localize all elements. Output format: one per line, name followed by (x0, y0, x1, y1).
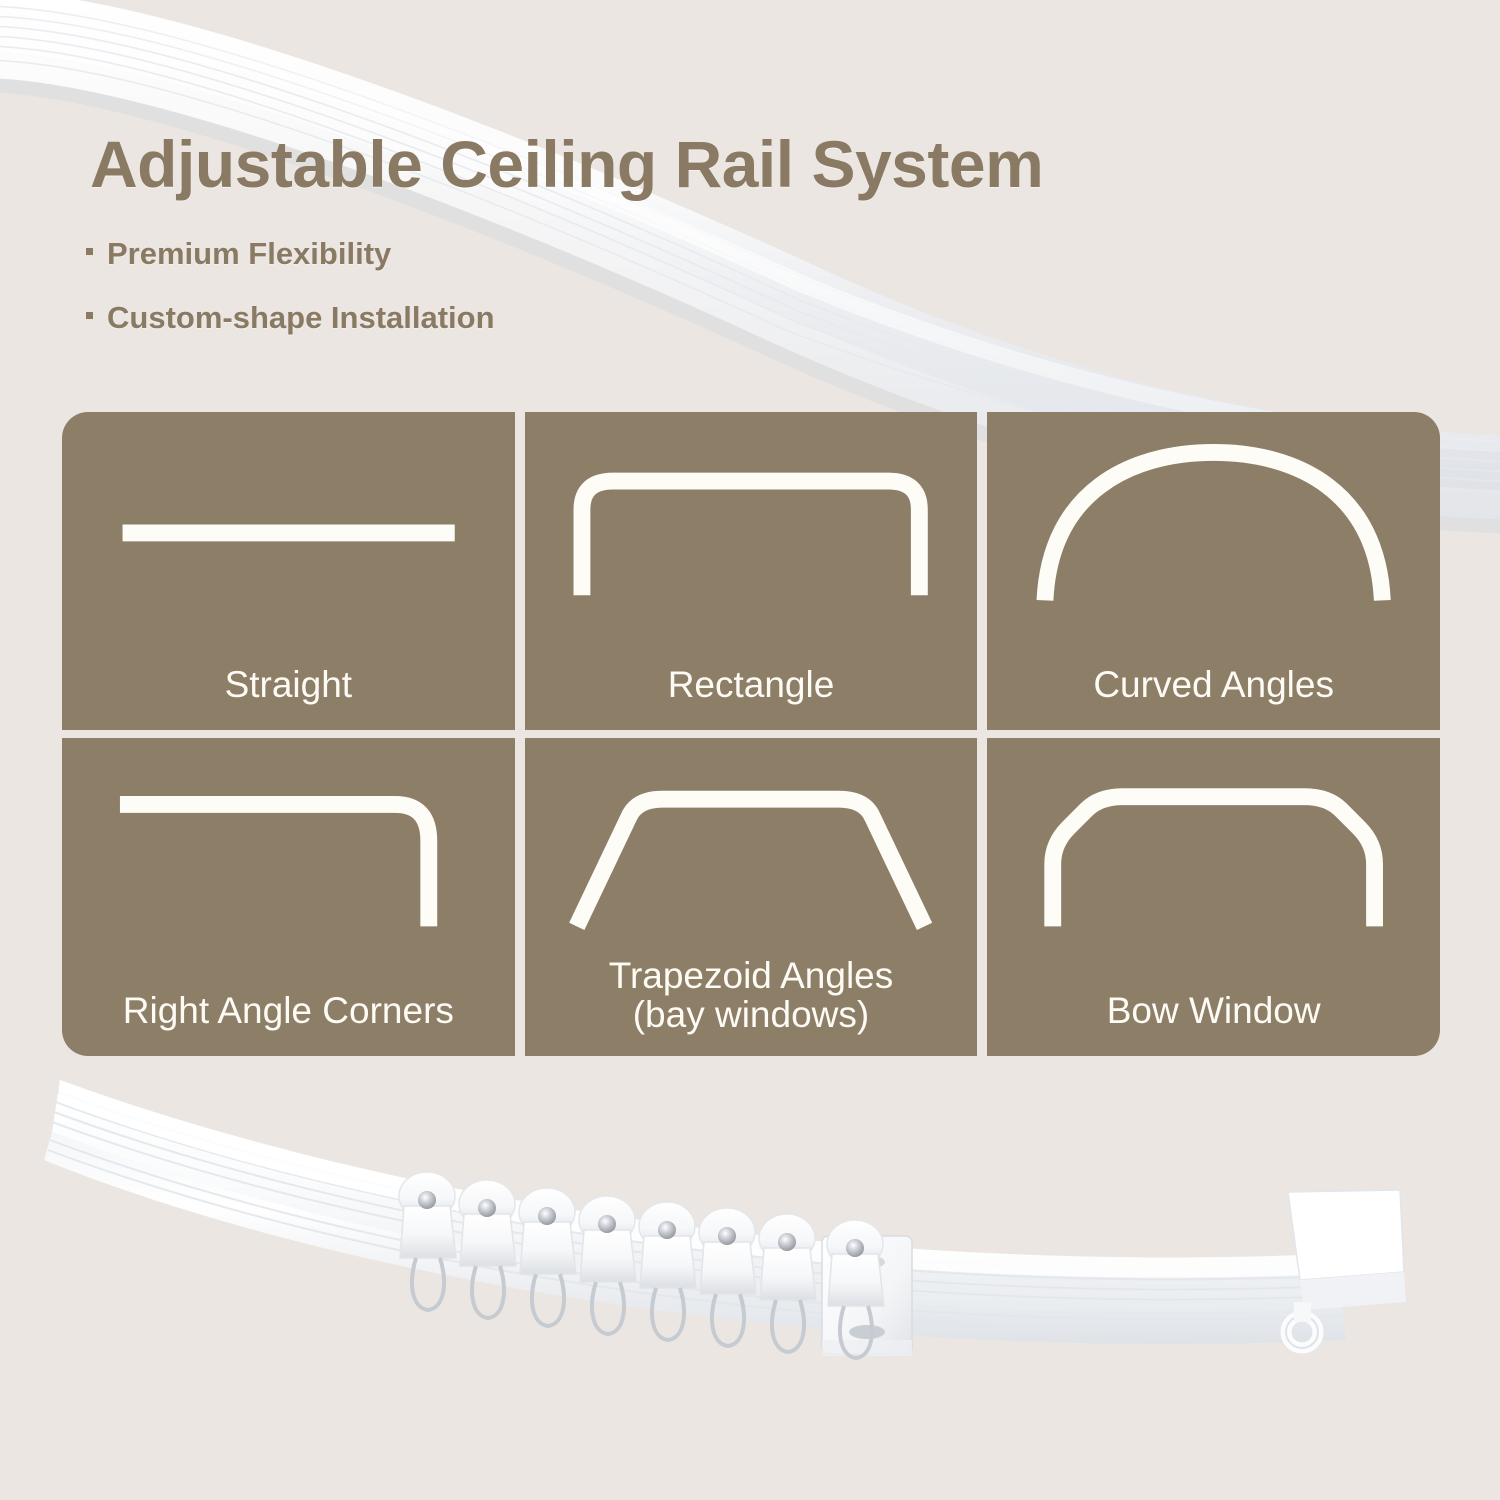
list-item: Custom-shape Installation (86, 300, 495, 336)
shape-cell-straight[interactable]: Straight (62, 412, 515, 730)
bullet-dot-icon (86, 248, 93, 255)
straight-line-shape (62, 412, 515, 641)
trapezoid-shape (525, 738, 978, 967)
roller-glider-carrier (759, 1214, 816, 1352)
bullet-label: Premium Flexibility (107, 236, 391, 272)
product-photo-curtain-track (0, 1040, 1500, 1500)
infographic-canvas: Adjustable Ceiling Rail System Premium F… (0, 0, 1500, 1500)
bow-window-shape (987, 738, 1440, 967)
bullet-label: Custom-shape Installation (107, 300, 495, 336)
list-item: Premium Flexibility (86, 236, 495, 272)
shape-label: Right Angle Corners (115, 991, 462, 1056)
bullet-dot-icon (86, 312, 93, 319)
page-title: Adjustable Ceiling Rail System (90, 126, 1043, 202)
shape-cell-right-angle-corners[interactable]: Right Angle Corners (62, 738, 515, 1056)
feature-bullet-list: Premium Flexibility Custom-shape Install… (86, 236, 495, 364)
shape-cell-trapezoid-angles[interactable]: Trapezoid Angles (bay windows) (525, 738, 978, 1056)
right-angle-shape (62, 738, 515, 967)
shape-label: Bow Window (1099, 991, 1329, 1056)
shape-label: Rectangle (660, 665, 843, 730)
roller-glider-group (399, 1172, 884, 1358)
roller-glider-carrier (399, 1172, 456, 1310)
roller-glider-carrier (459, 1180, 516, 1318)
shape-label: Straight (217, 665, 361, 730)
arch-shape (987, 412, 1440, 641)
shape-cell-rectangle[interactable]: Rectangle (525, 412, 978, 730)
shape-cell-curved-angles[interactable]: Curved Angles (987, 412, 1440, 730)
shape-options-grid: Straight Rectangle Curved Angles (62, 412, 1440, 1056)
shape-label: Curved Angles (1085, 665, 1342, 730)
rectangle-shape (525, 412, 978, 641)
header-block: Adjustable Ceiling Rail System Premium F… (0, 0, 1500, 400)
shape-cell-bow-window[interactable]: Bow Window (987, 738, 1440, 1056)
roller-glider-carrier (699, 1208, 756, 1346)
shape-label: Trapezoid Angles (bay windows) (601, 956, 902, 1056)
roller-glider-carrier (519, 1188, 576, 1326)
roller-glider-carrier (579, 1196, 636, 1334)
roller-glider-carrier (639, 1202, 696, 1340)
